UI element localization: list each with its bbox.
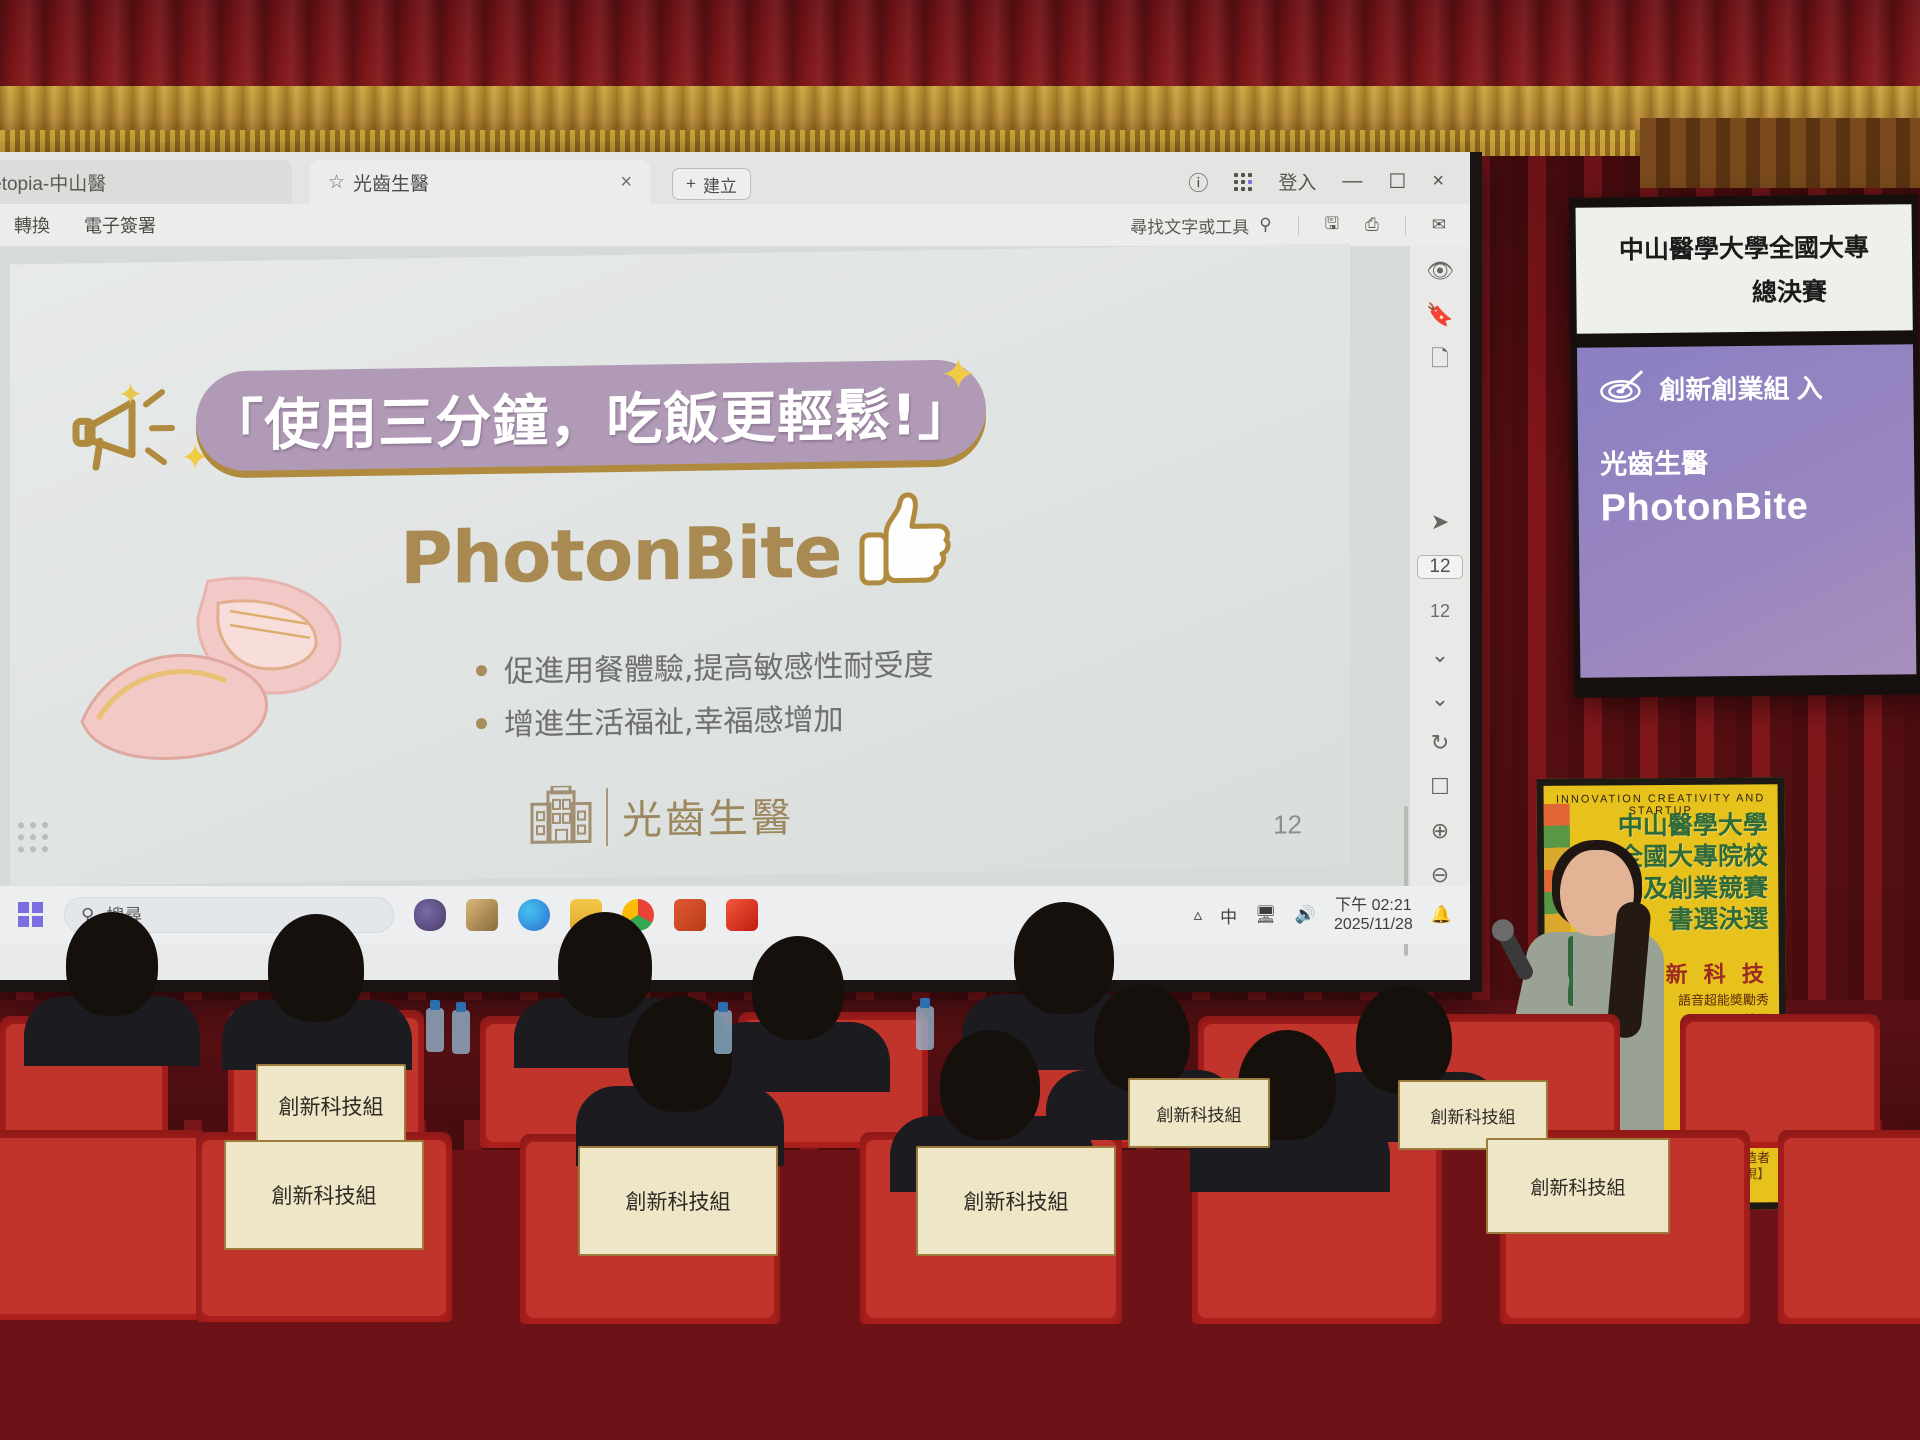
seat-sign: 創新科技組: [1128, 1078, 1270, 1148]
network-icon[interactable]: 🖥: [1255, 905, 1277, 925]
apps-grid-icon[interactable]: [1234, 173, 1252, 191]
star-icon: ☆: [328, 171, 345, 194]
chevron-up-icon[interactable]: ▵: [1194, 905, 1203, 925]
window-controls: ⓘ 登入 — ☐ ×: [1188, 167, 1470, 204]
mouthguard-icon: [58, 549, 378, 774]
audience-head: [752, 936, 844, 1040]
audience-head: [558, 912, 652, 1018]
secondary-team-brand: PhotonBite: [1600, 484, 1914, 530]
seat-sign-label: 創新科技組: [272, 1180, 377, 1210]
secondary-projection-screen: 中山醫學大學全國大專 總決賽 創新創業組 入 光齒生醫 PhotonBite: [1569, 194, 1920, 698]
menu-item-convert[interactable]: 轉換: [14, 212, 50, 238]
auditorium-scene: egetopia-中山醫 ☆ 光齒生醫 × + 建立 ⓘ 登入 — ☐: [0, 0, 1920, 1440]
sparkle-icon: ✦: [118, 380, 143, 410]
new-tab-button[interactable]: + 建立: [672, 168, 751, 200]
clock-date: 2025/11/28: [1334, 915, 1413, 934]
water-bottle: [714, 1010, 732, 1054]
brand-wordmark: PhotonBite: [400, 509, 841, 600]
close-button[interactable]: ×: [1432, 170, 1444, 193]
seat-sign: 創新科技組: [256, 1064, 406, 1148]
help-circle-icon[interactable]: ⓘ: [1188, 167, 1208, 196]
slide-headline-text: 「使用三分鐘，吃飯更輕鬆!」: [207, 369, 975, 462]
secondary-screen-body: 創新創業組 入 光齒生醫 PhotonBite: [1577, 344, 1916, 678]
water-bottle: [916, 1006, 934, 1050]
tab-egetopia[interactable]: egetopia-中山醫: [0, 160, 292, 204]
pdf-document-area[interactable]: ✦ ✦ 「使用三分鐘，吃飯更輕鬆!」 ✦ PhotonBite: [0, 246, 1470, 886]
pages-icon[interactable]: 🗋: [1431, 348, 1449, 370]
secondary-group-row: 創新創業組 入: [1599, 366, 1913, 408]
presentation-slide: ✦ ✦ 「使用三分鐘，吃飯更輕鬆!」 ✦ PhotonBite: [10, 243, 1350, 886]
target-icon: [1599, 369, 1645, 408]
water-bottle: [452, 1010, 470, 1054]
secondary-header-line2: 總決賽: [1662, 272, 1827, 310]
edge-icon[interactable]: [518, 899, 550, 931]
slide-bullet-list: 促進用餐體驗,提高敏感性耐受度 增進生活福祉,幸福感增加: [470, 638, 1070, 752]
widgets-icon[interactable]: [414, 899, 446, 931]
tab-label: 光齒生醫: [353, 169, 429, 196]
audience-area: 創新科技組 創新科技組 創新科技組 創新科技組 創新科技組 創新科技組 創新科技…: [0, 1000, 1920, 1440]
building-icon: [530, 785, 592, 849]
signin-button[interactable]: 登入: [1278, 168, 1316, 195]
reader-menu-bar: 轉換 電子簽署: [0, 204, 1470, 246]
close-icon[interactable]: ×: [620, 171, 632, 194]
plus-icon: +: [686, 174, 696, 194]
seat-sign: 創新科技組: [578, 1146, 778, 1256]
audience-head: [1014, 902, 1114, 1014]
fit-page-icon[interactable]: ☐: [1430, 776, 1450, 798]
seat-sign-label: 創新科技組: [1530, 1173, 1625, 1200]
secondary-screen-header: 中山醫學大學全國大專 總決賽: [1575, 204, 1912, 334]
volume-icon[interactable]: 🔊: [1295, 905, 1316, 925]
audience-head: [1094, 984, 1190, 1092]
poster-title-line: 中山醫學大學: [1578, 810, 1768, 843]
reader-side-rail: 👁 🔖 🗋 ➤ 12 12 ⌄ ⌄ ↻ ☐ ⊕ ⊖: [1410, 246, 1470, 886]
explorer-icon[interactable]: [466, 899, 498, 931]
seat: [1680, 1014, 1880, 1148]
word-icon[interactable]: [674, 899, 706, 931]
bookmark-icon[interactable]: 🔖: [1426, 304, 1453, 326]
reader-tab-bar: egetopia-中山醫 ☆ 光齒生醫 × + 建立 ⓘ 登入 — ☐: [0, 152, 1470, 204]
current-page-field[interactable]: 12: [1417, 555, 1463, 579]
secondary-team-name: 光齒生醫: [1600, 439, 1914, 481]
slide-headline-banner: 「使用三分鐘，吃飯更輕鬆!」: [196, 359, 986, 471]
ime-indicator[interactable]: 中: [1220, 903, 1237, 928]
company-logo-block: 光齒生醫: [530, 782, 794, 849]
menu-item-esign[interactable]: 電子簽署: [84, 212, 156, 238]
clock-time: 下午 02:21: [1334, 896, 1413, 915]
seat-sign-label: 創新科技組: [626, 1186, 731, 1216]
secondary-group-label: 創新創業組 入: [1659, 368, 1823, 407]
cursor-icon[interactable]: ➤: [1431, 511, 1449, 533]
tab-photonbite[interactable]: ☆ 光齒生醫 ×: [310, 160, 650, 204]
chevron-up-icon[interactable]: ⌄: [1431, 644, 1449, 666]
seat: [1778, 1130, 1920, 1324]
seat-sign-label: 創新科技組: [964, 1186, 1069, 1216]
new-tab-label: 建立: [703, 172, 737, 197]
projection-screen: egetopia-中山醫 ☆ 光齒生醫 × + 建立 ⓘ 登入 — ☐: [0, 152, 1470, 980]
list-item: 促進用餐體驗,提高敏感性耐受度: [470, 638, 1070, 700]
windows-start-icon[interactable]: [18, 902, 44, 928]
total-pages-label: 12: [1430, 601, 1450, 622]
sparkle-icon: ✦: [940, 353, 977, 398]
windows-taskbar: ⚲ 搜尋 ▵ 中 🖥 🔊 下午 02:21 2025/11/28 🔔: [0, 886, 1470, 944]
secondary-header-line1: 中山醫學大學全國大專: [1619, 228, 1869, 267]
list-item: 增進生活福祉,幸福感增加: [470, 690, 1070, 752]
minimize-button[interactable]: —: [1342, 170, 1362, 193]
taskbar-clock[interactable]: 下午 02:21 2025/11/28: [1334, 896, 1413, 934]
seat-sign: 創新科技組: [224, 1140, 424, 1250]
wood-panel: [1640, 118, 1920, 188]
seat: [0, 1130, 208, 1320]
acrobat-icon[interactable]: [726, 899, 758, 931]
thumbs-up-icon: [840, 480, 960, 602]
seat-sign: 創新科技組: [916, 1146, 1116, 1256]
decorative-dots: [18, 822, 58, 867]
zoom-out-icon[interactable]: ⊖: [1431, 864, 1449, 886]
rotate-icon[interactable]: ↻: [1431, 732, 1449, 754]
maximize-button[interactable]: ☐: [1388, 169, 1406, 194]
audience-head: [1356, 986, 1452, 1094]
tab-label: egetopia-中山醫: [0, 169, 106, 196]
seat-sign-label: 創新科技組: [1431, 1103, 1516, 1128]
zoom-in-icon[interactable]: ⊕: [1431, 820, 1449, 842]
audience-head: [940, 1030, 1040, 1140]
slide-page-number: 12: [1273, 809, 1302, 840]
seat-sign-label: 創新科技組: [1157, 1101, 1242, 1126]
audience-head: [268, 914, 364, 1022]
audience-head: [66, 912, 158, 1016]
chevron-down-icon[interactable]: ⌄: [1431, 688, 1449, 710]
seat-sign: 創新科技組: [1486, 1138, 1670, 1234]
seat-sign-label: 創新科技組: [279, 1091, 384, 1121]
system-tray: ▵ 中 🖥 🔊 下午 02:21 2025/11/28 🔔: [1194, 896, 1452, 934]
company-name: 光齒生醫: [606, 785, 794, 846]
eye-icon[interactable]: 👁: [1426, 260, 1454, 282]
water-bottle: [426, 1008, 444, 1052]
bell-icon[interactable]: 🔔: [1431, 905, 1452, 925]
